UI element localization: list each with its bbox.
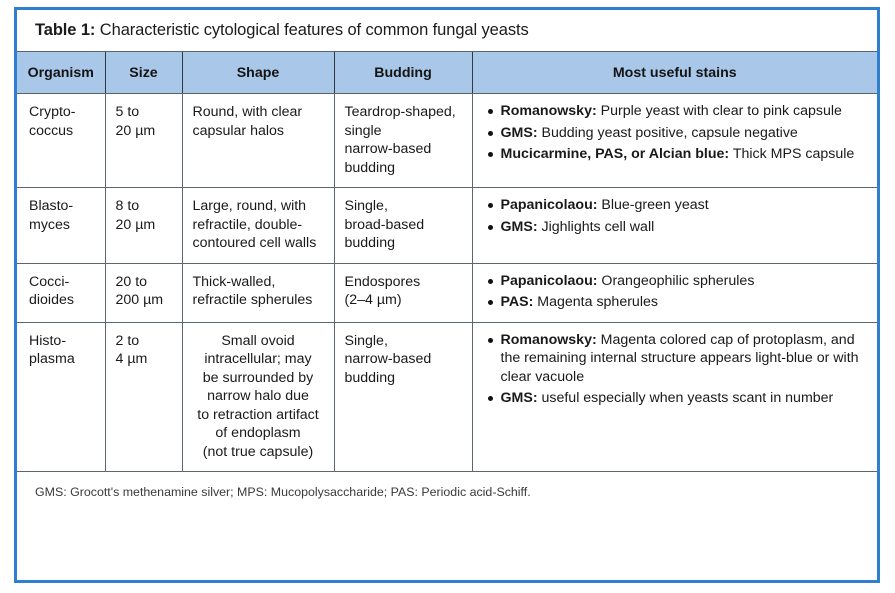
cell-size: 2 to4 µm: [105, 322, 182, 472]
table-body: Crypto-coccus5 to20 µmRound, with clearc…: [17, 94, 877, 472]
cell-budding: Single,broad-basedbudding: [334, 188, 472, 264]
stain-list-item: PAS: Magenta spherules: [501, 293, 866, 312]
cell-stains: Romanowsky: Purple yeast with clear to p…: [472, 94, 877, 188]
column-header-shape: Shape: [182, 52, 334, 94]
table-header-row: Organism Size Shape Budding Most useful …: [17, 52, 877, 94]
cell-budding: Teardrop-shaped,singlenarrow-basedbuddin…: [334, 94, 472, 188]
cell-budding: Single,narrow-basedbudding: [334, 322, 472, 472]
stain-list: Papanicolaou: Orangeophilic spherulesPAS…: [479, 272, 870, 312]
stain-detail: Purple yeast with clear to pink capsule: [597, 103, 842, 119]
stain-detail: Jighlights cell wall: [538, 219, 655, 235]
stain-list: Papanicolaou: Blue-green yeastGMS: Jighl…: [479, 196, 870, 236]
cell-size: 5 to20 µm: [105, 94, 182, 188]
cell-organism: Blasto-myces: [17, 188, 105, 264]
cell-shape: Round, with clearcapsular halos: [182, 94, 334, 188]
cell-stains: Papanicolaou: Orangeophilic spherulesPAS…: [472, 263, 877, 322]
table-row: Cocci-dioides20 to200 µmThick-walled,ref…: [17, 263, 877, 322]
stain-detail: Blue-green yeast: [597, 197, 708, 213]
table-row: Crypto-coccus5 to20 µmRound, with clearc…: [17, 94, 877, 188]
table-caption: Table 1: Characteristic cytological feat…: [17, 10, 877, 51]
table-container: Table 1: Characteristic cytological feat…: [14, 7, 880, 583]
stain-list-item: GMS: useful especially when yeasts scant…: [501, 389, 866, 408]
stain-list-item: Papanicolaou: Orangeophilic spherules: [501, 272, 866, 291]
stain-name: GMS:: [501, 219, 538, 235]
stain-name: Romanowsky:: [501, 332, 597, 348]
stain-name: Mucicarmine, PAS, or Alcian blue:: [501, 146, 730, 162]
stain-list-item: GMS: Budding yeast positive, capsule neg…: [501, 124, 866, 143]
stain-list-item: Papanicolaou: Blue-green yeast: [501, 196, 866, 215]
stain-name: GMS:: [501, 390, 538, 406]
table-header: Organism Size Shape Budding Most useful …: [17, 52, 877, 94]
stain-name: Papanicolaou:: [501, 197, 598, 213]
column-header-size: Size: [105, 52, 182, 94]
stain-detail: Orangeophilic spherules: [597, 273, 754, 289]
cell-size: 8 to20 µm: [105, 188, 182, 264]
stain-detail: Budding yeast positive, capsule negative: [538, 125, 798, 141]
column-header-organism: Organism: [17, 52, 105, 94]
stain-list-item: Mucicarmine, PAS, or Alcian blue: Thick …: [501, 145, 866, 164]
column-header-budding: Budding: [334, 52, 472, 94]
cell-budding: Endospores(2–4 µm): [334, 263, 472, 322]
cell-organism: Cocci-dioides: [17, 263, 105, 322]
stain-list-item: GMS: Jighlights cell wall: [501, 218, 866, 237]
stain-name: Papanicolaou:: [501, 273, 598, 289]
fungal-yeast-table: Organism Size Shape Budding Most useful …: [17, 51, 877, 472]
stain-list-item: Romanowsky: Magenta colored cap of proto…: [501, 331, 866, 387]
cell-organism: Crypto-coccus: [17, 94, 105, 188]
table-row: Histo-plasma2 to4 µmSmall ovoidintracell…: [17, 322, 877, 472]
cell-shape: Small ovoidintracellular; maybe surround…: [182, 322, 334, 472]
cell-shape: Thick-walled,refractile spherules: [182, 263, 334, 322]
stain-list: Romanowsky: Purple yeast with clear to p…: [479, 102, 870, 164]
cell-size: 20 to200 µm: [105, 263, 182, 322]
table-row: Blasto-myces8 to20 µmLarge, round, withr…: [17, 188, 877, 264]
cell-shape: Large, round, withrefractile, double-con…: [182, 188, 334, 264]
cell-stains: Papanicolaou: Blue-green yeastGMS: Jighl…: [472, 188, 877, 264]
column-header-stains: Most useful stains: [472, 52, 877, 94]
stain-name: GMS:: [501, 125, 538, 141]
table-caption-label: Table 1:: [35, 21, 95, 39]
stain-name: PAS:: [501, 294, 534, 310]
stain-list-item: Romanowsky: Purple yeast with clear to p…: [501, 102, 866, 121]
stain-list: Romanowsky: Magenta colored cap of proto…: [479, 331, 870, 408]
table-caption-text: Characteristic cytological features of c…: [95, 21, 528, 39]
stain-detail: useful especially when yeasts scant in n…: [538, 390, 834, 406]
cell-organism: Histo-plasma: [17, 322, 105, 472]
stain-detail: Thick MPS capsule: [729, 146, 854, 162]
stain-name: Romanowsky:: [501, 103, 597, 119]
table-footnote: GMS: Grocott's methenamine silver; MPS: …: [17, 472, 877, 512]
cell-stains: Romanowsky: Magenta colored cap of proto…: [472, 322, 877, 472]
stain-detail: Magenta spherules: [533, 294, 658, 310]
